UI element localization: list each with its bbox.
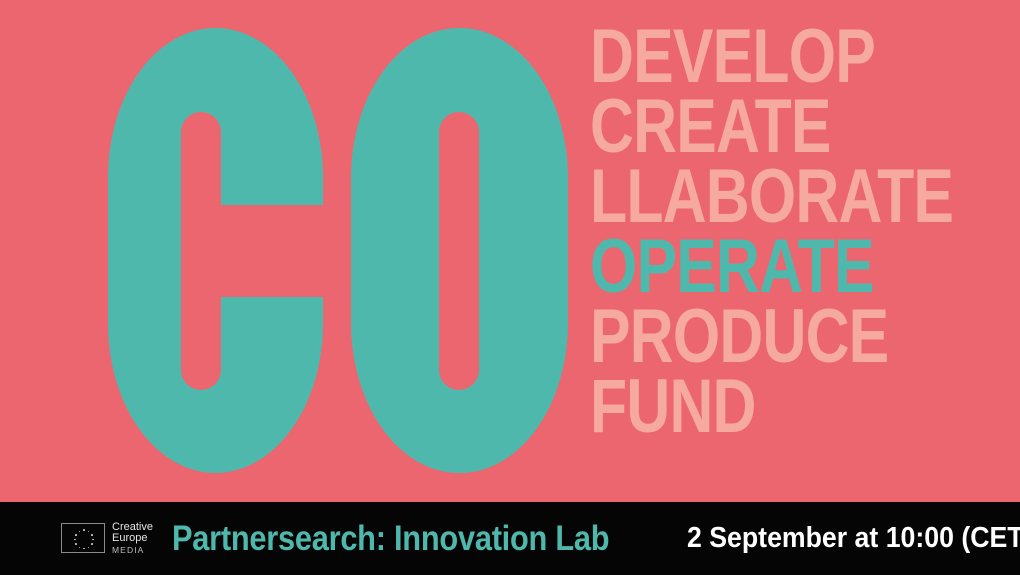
poster-canvas: DEVELOP CREATE LLABORATE OPERATE PRODUCE…	[0, 0, 1020, 575]
eu-star-icon	[83, 548, 85, 550]
eu-star-icon	[79, 531, 81, 533]
eu-star-icon	[75, 534, 77, 536]
verb-develop: DEVELOP	[590, 22, 926, 92]
co-wordmark	[108, 28, 568, 473]
verb-produce: PRODUCE	[590, 302, 926, 372]
letter-o-glyph	[351, 28, 568, 473]
eu-star-icon	[91, 534, 93, 536]
eu-star-icon	[92, 539, 94, 541]
verb-create: CREATE	[590, 92, 926, 162]
letter-c-counter-arm	[181, 205, 333, 297]
eu-star-icon	[75, 543, 77, 545]
eu-flag-icon	[61, 523, 105, 553]
eu-star-icon	[88, 547, 90, 549]
footer-bar: Creative Europe MEDIA Partnersearch: Inn…	[0, 502, 1020, 575]
logo-line-media: MEDIA	[112, 546, 153, 555]
creative-europe-media-logo: Creative Europe MEDIA	[61, 522, 153, 556]
event-datetime: 2 September at 10:00 (CET)	[687, 522, 1020, 555]
event-title: Partnersearch: Innovation Lab	[172, 519, 609, 559]
letter-c-glyph	[108, 28, 323, 473]
logo-line-europe: Europe	[112, 533, 153, 545]
eu-star-icon	[91, 543, 93, 545]
hero-section: DEVELOP CREATE LLABORATE OPERATE PRODUCE…	[0, 0, 1020, 502]
eu-star-icon	[79, 547, 81, 549]
logo-wordmark: Creative Europe MEDIA	[112, 522, 153, 556]
eu-star-icon	[88, 531, 90, 533]
verb-llaborate: LLABORATE	[590, 162, 926, 232]
eu-star-icon	[74, 539, 76, 541]
verb-fund: FUND	[590, 372, 926, 442]
letter-o-counter-slot	[439, 112, 479, 390]
verb-stack: DEVELOP CREATE LLABORATE OPERATE PRODUCE…	[590, 22, 1010, 442]
eu-star-icon	[83, 529, 85, 531]
verb-operate: OPERATE	[590, 232, 926, 302]
